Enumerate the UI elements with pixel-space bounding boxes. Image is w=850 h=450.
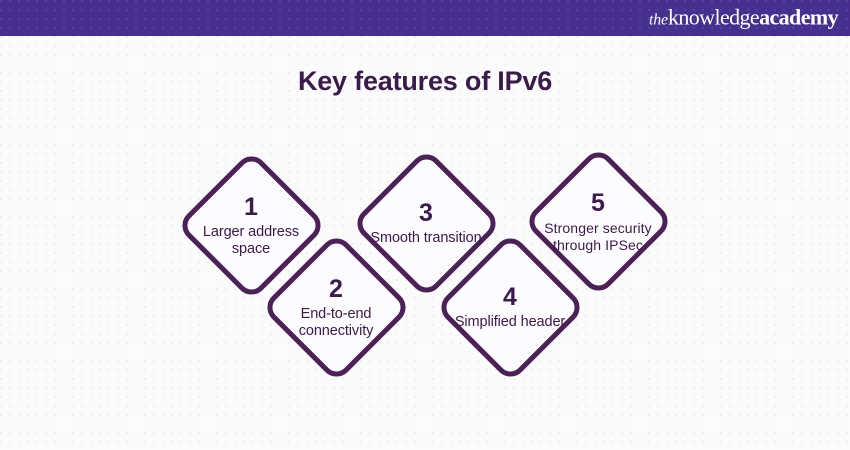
diamond-shape-3	[350, 147, 501, 298]
diamond-node-1[interactable]: 1 Larger address space	[175, 149, 327, 301]
diamond-node-5[interactable]: 5 Stronger security through IPSec	[522, 145, 674, 297]
diamond-shape-5	[522, 145, 673, 296]
diamond-node-3[interactable]: 3 Smooth transition	[350, 147, 502, 299]
diamond-shape-1	[175, 149, 326, 300]
slide-canvas: theknowledgeacademy Key features of IPv6…	[0, 0, 850, 450]
diamond-chain-diagram: 1 Larger address space 2 End-to-end conn…	[0, 0, 850, 450]
